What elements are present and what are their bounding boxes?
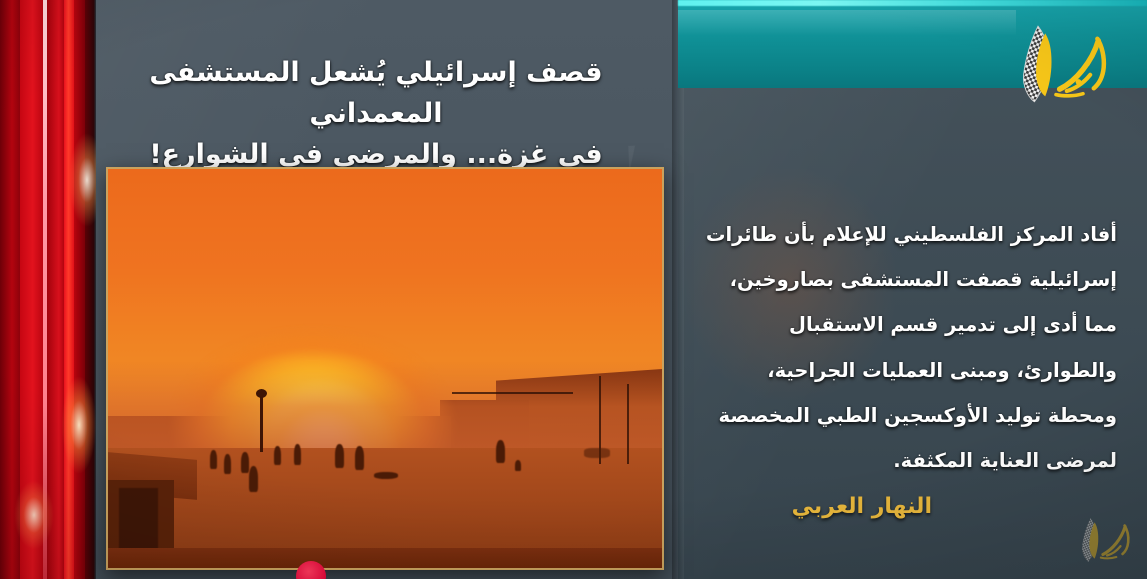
report-line-6: لمرضى العناية المكثفة. [717, 438, 1117, 483]
person-silhouette [210, 450, 217, 469]
red-stripe-6 [85, 0, 96, 579]
headline-line-1: قصف إسرائيلي يُشعل المستشفى المعمداني [96, 52, 656, 134]
red-stripe-4 [64, 0, 74, 579]
street-lamp [260, 396, 263, 452]
red-bar-glow-top [64, 120, 96, 240]
report-line-3: مما أدى إلى تدمير قسم الاستقبال [717, 302, 1117, 347]
report-text: أفاد المركز الفلسطيني للإعلام بأن طائرات… [717, 212, 1117, 483]
report-line-1: أفاد المركز الفلسطيني للإعلام بأن طائرات [717, 212, 1117, 257]
person-silhouette [335, 444, 344, 468]
person-silhouette [355, 446, 364, 470]
headline: قصف إسرائيلي يُشعل المستشفى المعمداني في… [96, 52, 656, 175]
scaffold-pole-2 [627, 384, 629, 464]
al-kofiya-watermark [1075, 513, 1137, 567]
parked-vehicle [584, 448, 610, 458]
red-bar-glow-bottom [8, 470, 60, 560]
red-light-bars [0, 0, 96, 579]
teal-band-highlight [678, 0, 1147, 6]
news-video-frame[interactable] [106, 167, 664, 570]
red-bar-glow-middle [56, 360, 96, 490]
person-silhouette [274, 446, 281, 465]
report-line-2: إسرائيلية قصفت المستشفى بصاروخين، [717, 257, 1117, 302]
source-attribution: النهار العربي [792, 494, 932, 519]
debris-pile [374, 472, 398, 479]
video-content [108, 169, 662, 568]
report-line-5: ومحطة توليد الأوكسجين الطبي المخصصة [717, 393, 1117, 438]
broadcast-screen: قصف إسرائيلي يُشعل المستشفى المعمداني في… [0, 0, 1147, 579]
teal-band-sheen [678, 10, 1016, 36]
al-kofiya-logo [1011, 18, 1119, 110]
person-silhouette [496, 440, 505, 463]
person-silhouette [515, 460, 521, 471]
person-silhouette [249, 466, 258, 492]
person-silhouette [294, 444, 301, 465]
scaffold-pole-3 [452, 392, 574, 394]
red-stripe-5 [74, 0, 85, 579]
person-silhouette [224, 454, 231, 474]
report-line-4: والطوارئ، ومبنى العمليات الجراحية، [717, 348, 1117, 393]
person-silhouette [241, 452, 249, 473]
video-bottom-edge [108, 548, 662, 568]
